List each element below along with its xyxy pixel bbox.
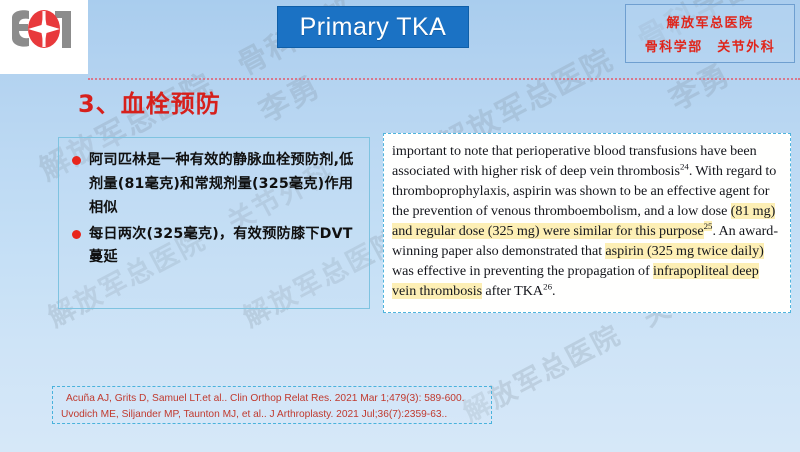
bullet-dot-icon xyxy=(72,230,81,239)
citation-box: Acuña AJ, Grits D, Samuel LT.et al.. Cli… xyxy=(52,386,492,424)
header-divider xyxy=(88,78,800,80)
organization-line-1: 解放军总医院 xyxy=(666,12,753,31)
quote-text-run: was effective in preventing the propagat… xyxy=(392,263,653,279)
list-item: 每日两次(325毫克)，有效预防膝下DVT蔓延 xyxy=(67,223,361,271)
bullet-dot-icon xyxy=(72,156,81,165)
slide-canvas: 解放军总医院 骨科学部李勇解放军总医院 骨科学部李勇解放军总医院 关节外科解放军… xyxy=(0,0,800,452)
citation-line: Acuña AJ, Grits D, Samuel LT.et al.. Cli… xyxy=(61,391,485,407)
slide-title: Primary TKA xyxy=(300,13,447,42)
quote-text-run: 24 xyxy=(680,161,689,171)
quote-text-run: . xyxy=(552,283,556,299)
quote-text-run: 26 xyxy=(543,281,552,291)
organization-badge: 解放军总医院 骨科学部 关节外科 xyxy=(625,4,795,63)
reference-quote-text: important to note that perioperative blo… xyxy=(392,141,782,301)
reference-quote-panel: important to note that perioperative blo… xyxy=(383,133,791,313)
highlighted-phrase: aspirin (325 mg twice daily) xyxy=(605,243,764,259)
hospital-logo xyxy=(0,0,88,74)
bullet-item-text: 每日两次(325毫克)，有效预防膝下DVT蔓延 xyxy=(89,223,361,271)
list-item: 阿司匹林是一种有效的静脉血栓预防剂,低剂量(81毫克)和常规剂量(325毫克)作… xyxy=(67,149,361,221)
citation-line: Uvodich ME, Siljander MP, Taunton MJ, et… xyxy=(61,407,485,423)
organization-line-2: 骨科学部 关节外科 xyxy=(645,36,776,55)
quote-text-run: after TKA xyxy=(482,283,543,299)
301-logo-icon xyxy=(8,8,80,66)
bullet-item-text: 阿司匹林是一种有效的静脉血栓预防剂,低剂量(81毫克)和常规剂量(325毫克)作… xyxy=(89,149,361,221)
watermark-text: 李勇 xyxy=(250,62,327,131)
section-heading: 3、血栓预防 xyxy=(78,84,221,119)
bullet-panel: 阿司匹林是一种有效的静脉血栓预防剂,低剂量(81毫克)和常规剂量(325毫克)作… xyxy=(58,137,370,309)
slide-title-badge: Primary TKA xyxy=(277,6,469,48)
